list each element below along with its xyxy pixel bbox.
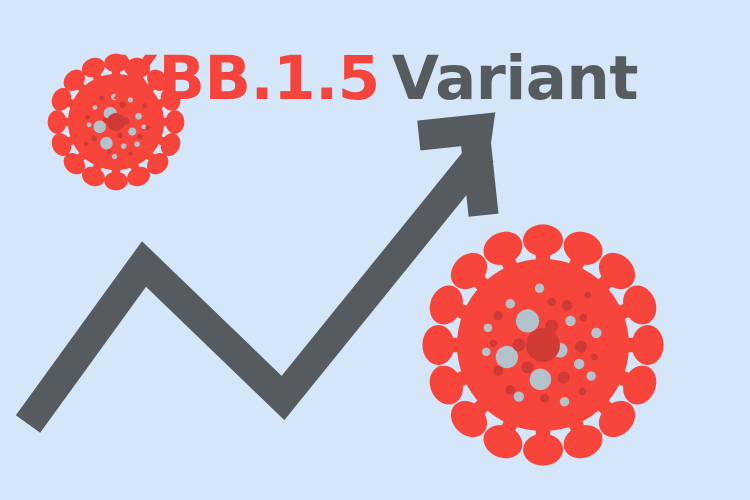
- virus-speckle-dark: [579, 388, 587, 396]
- virus-speckle-dark: [146, 126, 150, 130]
- spike-cap: [48, 110, 67, 134]
- virus-speckle-dark: [84, 142, 88, 146]
- virus-speckle-dark: [494, 311, 503, 320]
- spike-cap: [104, 172, 128, 191]
- spike-cap: [104, 54, 128, 73]
- virus-speckle-light: [134, 141, 140, 147]
- virus-speckle-light: [141, 124, 146, 129]
- virus-speckle-light: [482, 348, 491, 357]
- virus-speckle-light: [560, 397, 569, 406]
- virus-speckle-dark: [540, 394, 549, 403]
- spike-cap: [422, 325, 454, 365]
- spike-cap: [523, 434, 563, 466]
- virus-speckle-light: [92, 105, 97, 110]
- virus-speckle-dark: [522, 361, 534, 373]
- virus-speckle-light: [484, 324, 493, 333]
- coronavirus-particle-icon: [48, 54, 185, 191]
- virus-speckle-light: [591, 328, 601, 338]
- spike-cap: [166, 110, 185, 134]
- virus-core: [107, 113, 125, 131]
- virus-speckle-light: [530, 369, 552, 391]
- virus-speckle-light: [112, 154, 117, 159]
- virus-speckle-light: [586, 371, 595, 380]
- spike-cap: [523, 224, 563, 256]
- spike-cap: [632, 325, 664, 365]
- virus-speckle-light: [565, 316, 575, 326]
- virus-speckle-light: [135, 113, 142, 120]
- virus-speckle-light: [574, 359, 584, 369]
- virus-speckle-light: [128, 128, 136, 136]
- poster-canvas: XBB.1.5Variant: [0, 0, 750, 500]
- virus-core: [526, 328, 560, 362]
- virus-speckle-dark: [85, 115, 90, 120]
- virus-speckle-dark: [558, 372, 570, 384]
- virus-speckle-light: [111, 94, 117, 100]
- virus-speckle-dark: [489, 339, 497, 347]
- virus-speckle-dark: [562, 300, 572, 310]
- virus-speckle-dark: [506, 385, 515, 394]
- virus-speckle-light: [87, 122, 92, 127]
- virus-speckle-dark: [142, 103, 147, 108]
- virus-speckle-dark: [493, 366, 503, 376]
- virus-speckle-dark: [91, 135, 97, 141]
- virus-speckle-dark: [99, 96, 104, 101]
- virus-speckle-dark: [591, 354, 598, 361]
- virus-speckle-dark: [575, 341, 587, 353]
- poster-illustration: [0, 0, 750, 500]
- virus-speckle-light: [93, 121, 105, 133]
- virus-speckle-dark: [137, 134, 142, 139]
- virus-speckle-dark: [128, 152, 132, 156]
- virus-speckle-dark: [547, 298, 556, 307]
- virus-speckle-dark: [580, 314, 588, 322]
- virus-speckle-light: [514, 391, 524, 401]
- virus-speckle-light: [128, 97, 133, 102]
- virus-speckle-dark: [117, 133, 123, 139]
- virus-speckle-light: [535, 284, 544, 293]
- virus-speckle-light: [100, 137, 112, 149]
- virus-speckle-light: [506, 299, 515, 308]
- virus-speckle-dark: [119, 101, 126, 108]
- virus-speckle-dark: [107, 149, 112, 154]
- virus-speckle-dark: [584, 292, 591, 299]
- coronavirus-particle-icon: [422, 224, 663, 465]
- virus-speckle-light: [516, 309, 539, 332]
- virus-speckle-light: [121, 143, 127, 149]
- virus-speckle-dark: [512, 339, 525, 352]
